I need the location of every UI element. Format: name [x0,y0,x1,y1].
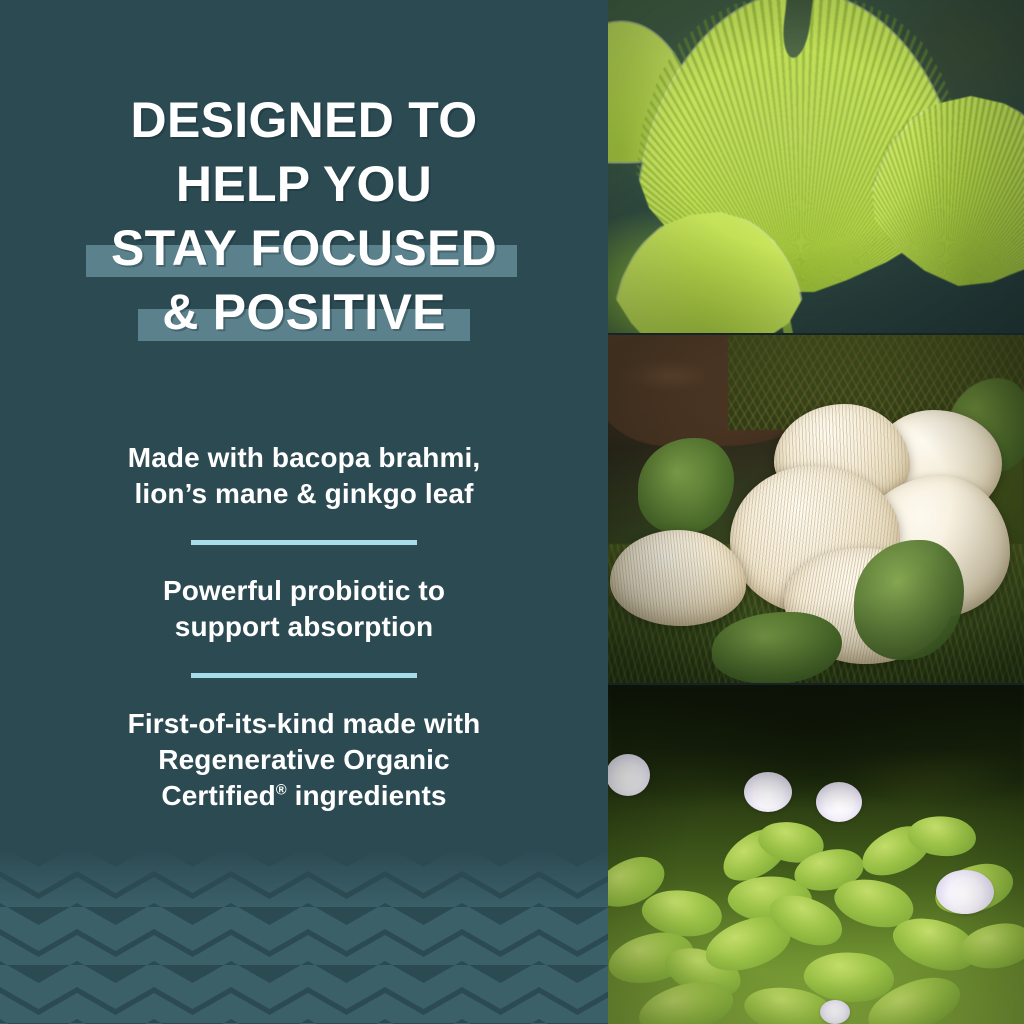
ginkgo-leaf-photo [608,0,1024,334]
benefit-item-probiotic: Powerful probiotic to support absorption [0,573,608,646]
headline-line-2-text: HELP YOU [176,152,432,216]
benefit-3-line-1: First-of-its-kind made with [128,708,481,739]
headline-line-1: DESIGNED TO [0,88,608,152]
bacopa-vignette [608,684,1024,1024]
chevron-herringbone-pattern [0,849,608,1024]
divider-2 [191,673,417,678]
benefit-list: Made with bacopa brahmi, lion’s mane & g… [0,440,608,815]
headline-line-1-text: DESIGNED TO [131,88,478,152]
benefit-3-line-3-after: ingredients [287,780,447,811]
headline-line-4: & POSITIVE [0,280,608,344]
registered-trademark-mark: ® [276,783,287,799]
headline-line-3-text: STAY FOCUSED [111,216,497,280]
left-text-panel: DESIGNED TO HELP YOU STAY FOCUSED & POSI… [0,0,608,1024]
divider-1-wrap [0,513,608,573]
photo-seam-1 [608,333,1024,335]
benefit-1-line-2: lion’s mane & ginkgo leaf [134,478,473,509]
mushroom-vignette [608,334,1024,684]
headline-line-4-text: & POSITIVE [162,280,446,344]
benefit-item-regenerative-organic: First-of-its-kind made with Regenerative… [0,706,608,815]
bacopa-flower-photo [608,684,1024,1024]
headline-line-2: HELP YOU [0,152,608,216]
image-column [608,0,1024,1024]
marketing-graphic: DESIGNED TO HELP YOU STAY FOCUSED & POSI… [0,0,1024,1024]
photo-seam-2 [608,683,1024,685]
benefit-item-ingredients: Made with bacopa brahmi, lion’s mane & g… [0,440,608,513]
benefit-2-line-1: Powerful probiotic to [163,575,445,606]
benefit-1-line-1: Made with bacopa brahmi, [128,442,480,473]
divider-1 [191,540,417,545]
benefit-2-line-2: support absorption [175,611,433,642]
lions-mane-mushroom-photo [608,334,1024,684]
benefit-3-line-3-before: Certified [161,780,275,811]
divider-2-wrap [0,646,608,706]
benefit-3-line-2: Regenerative Organic [158,744,449,775]
headline: DESIGNED TO HELP YOU STAY FOCUSED & POSI… [0,88,608,344]
ginkgo-vignette [608,0,1024,334]
headline-line-3: STAY FOCUSED [0,216,608,280]
